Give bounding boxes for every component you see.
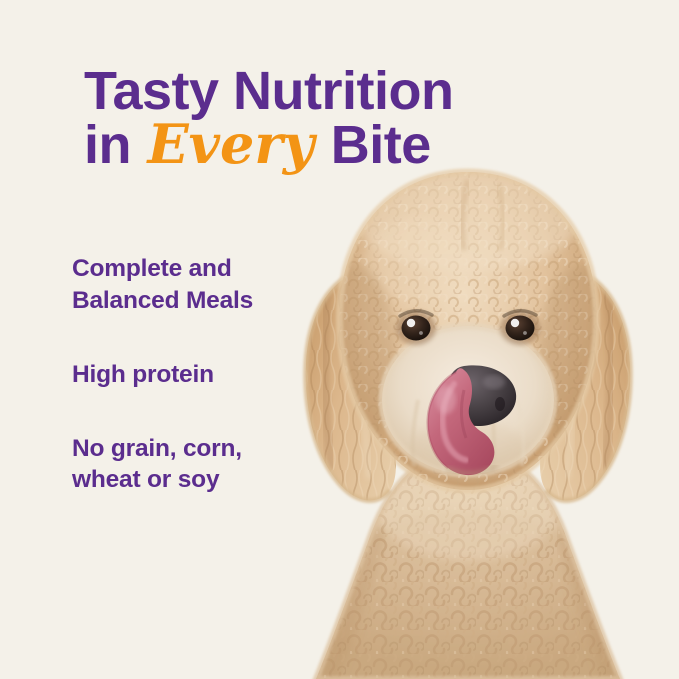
headline-line-1: Tasty Nutrition bbox=[84, 65, 644, 118]
dog-eye-left bbox=[396, 311, 436, 345]
headline-line2-pre: in bbox=[84, 115, 146, 175]
dog-eye-right bbox=[500, 311, 540, 345]
dog-photo bbox=[268, 150, 679, 679]
product-feature-panel: Tasty Nutrition in Every Bite Complete a… bbox=[0, 0, 679, 679]
